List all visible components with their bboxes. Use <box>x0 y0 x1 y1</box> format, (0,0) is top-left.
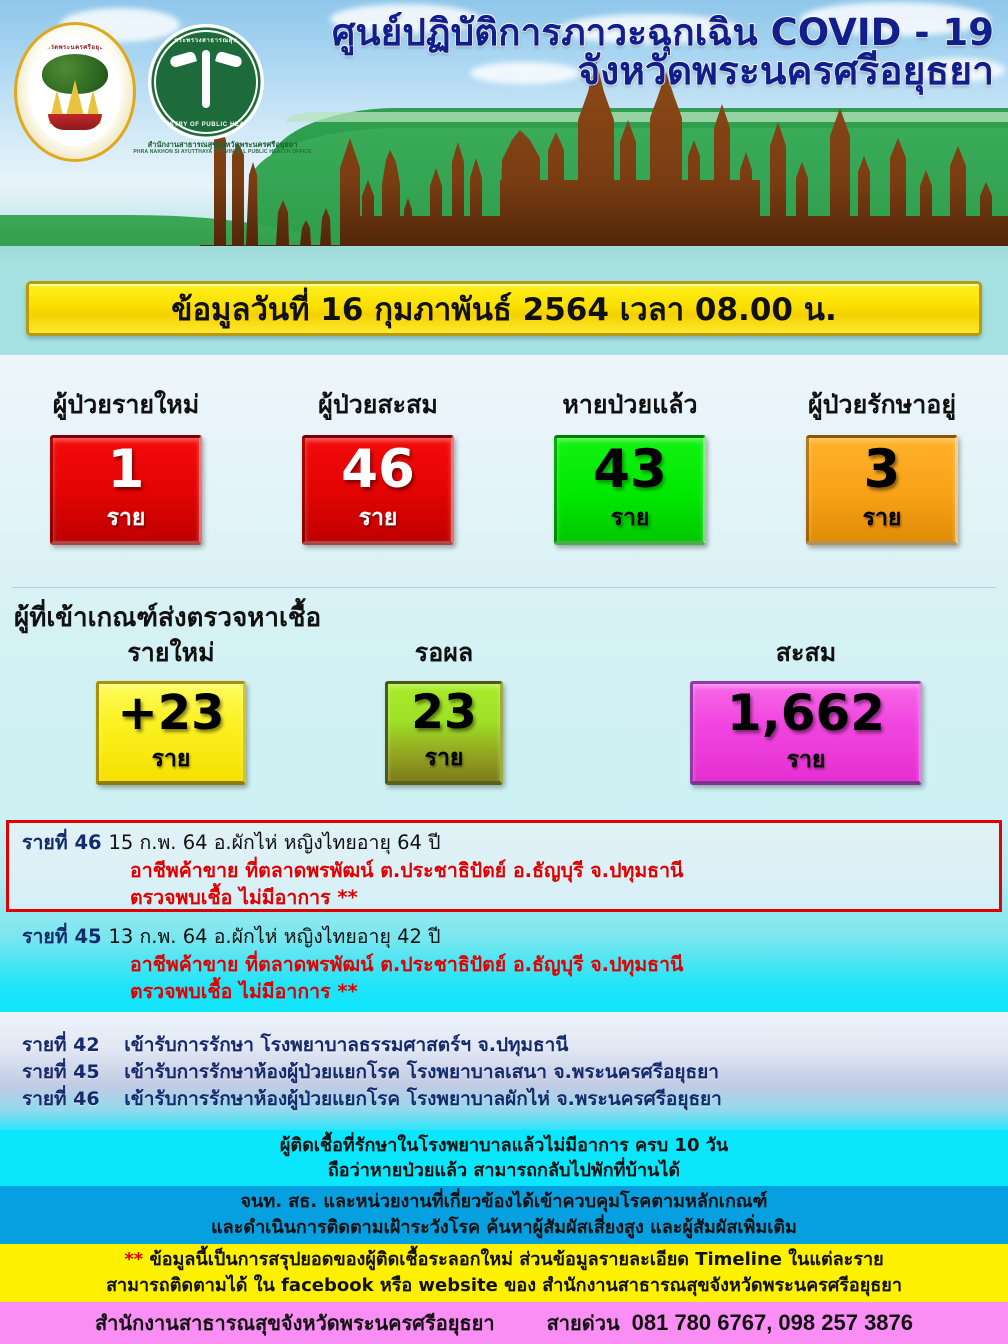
stat-unit: ราย <box>863 500 902 536</box>
page-title: ศูนย์ปฏิบัติการภาวะฉุกเฉิน COVID - 19 จั… <box>234 14 994 92</box>
office-caption-th: สำนักงานสาธารณสุขจังหวัดพระนครศรีอยุธยา <box>130 140 315 149</box>
stat-label: ผู้ป่วยรายใหม่ <box>53 385 199 425</box>
stat-recovered: หายป่วยแล้ว 43 ราย <box>504 385 756 545</box>
seal-base-icon <box>48 114 102 130</box>
stat-value: 1 <box>108 443 145 496</box>
admission-row: รายที่ 42 เข้ารับการรักษา โรงพยาบาลธรรมศ… <box>22 1030 568 1060</box>
admission-case-number: รายที่ 46 <box>22 1088 100 1110</box>
control-measures-line-1: จนท. สธ. และหน่วยงานที่เกี่ยวข้องได้เข้า… <box>240 1189 767 1215</box>
control-measures-section: จนท. สธ. และหน่วยงานที่เกี่ยวข้องได้เข้า… <box>0 1186 1008 1244</box>
case-detail-line-2: ตรวจพบเชื้อ ไม่มีอาการ ** <box>22 978 683 1006</box>
statistics-section: ผู้ป่วยรายใหม่ 1 ราย ผู้ป่วยสะสม 46 ราย … <box>0 355 1008 815</box>
seal-arc-text: จังหวัดพระนครศรีอยุธยา <box>29 42 121 52</box>
admission-text: เข้ารับการรักษาห้องผู้ป่วยแยกโรค โรงพยาบ… <box>106 1061 719 1083</box>
case-entry: รายที่ 45 13 ก.พ. 64 อ.ผักไห่ หญิงไทยอาย… <box>22 923 683 1006</box>
title-line-1: ศูนย์ปฏิบัติการภาวะฉุกเฉิน COVID - 19 <box>234 14 994 52</box>
moph-logo-text-en: MINISTRY OF PUBLIC HEALTH <box>148 122 264 128</box>
screening-new: รายใหม่ +23 ราย <box>96 633 246 785</box>
admission-case-number: รายที่ 45 <box>22 1061 100 1083</box>
case-number: รายที่ 45 <box>22 925 102 948</box>
stats-row-primary: ผู้ป่วยรายใหม่ 1 ราย ผู้ป่วยสะสม 46 ราย … <box>0 385 1008 545</box>
case-entry: รายที่ 46 15 ก.พ. 64 อ.ผักไห่ หญิงไทยอาย… <box>22 829 683 912</box>
recovery-note-line-1: ผู้ติดเชื้อที่รักษาในโรงพยาบาลแล้วไม่มีอ… <box>280 1133 728 1158</box>
recovery-note-line-2: ถือว่าหายป่วยแล้ว สามารถกลับไปพักที่บ้าน… <box>328 1158 680 1183</box>
hotline-numbers[interactable]: 081 780 6767, 098 257 3876 <box>632 1310 913 1336</box>
stat-card: 1 ราย <box>50 435 202 545</box>
case-header-line: รายที่ 46 15 ก.พ. 64 อ.ผักไห่ หญิงไทยอาย… <box>22 829 683 857</box>
case-summary: 13 ก.พ. 64 อ.ผักไห่ หญิงไทยอายุ 42 ปี <box>108 925 440 948</box>
disclaimer-line-1: ** ข้อมูลนี้เป็นการสรุปยอดของผู้ติดเชื้อ… <box>124 1247 883 1273</box>
screening-pending: รอผล 23 ราย <box>385 633 503 785</box>
header-banner: จังหวัดพระนครศรีอยุธยา กระทรวงสาธารณสุข … <box>0 0 1008 263</box>
admission-row: รายที่ 45 เข้ารับการรักษาห้องผู้ป่วยแยกโ… <box>22 1057 719 1087</box>
screening-label: สะสม <box>776 633 836 673</box>
stat-unit: ราย <box>611 500 650 536</box>
stat-under-treatment: ผู้ป่วยรักษาอยู่ 3 ราย <box>756 385 1008 545</box>
recovery-note-section: ผู้ติดเชื้อที่รักษาในโรงพยาบาลแล้วไม่มีอ… <box>0 1130 1008 1186</box>
stat-label: ผู้ป่วยรักษาอยู่ <box>808 385 956 425</box>
province-seal-logo: จังหวัดพระนครศรีอยุธยา <box>14 22 136 162</box>
title-line-2: จังหวัดพระนครศรีอยุธยา <box>234 52 994 92</box>
contact-footer: สำนักงานสาธารณสุขจังหวัดพระนครศรีอยุธยา … <box>0 1302 1008 1344</box>
date-banner: ข้อมูลวันที่ 16 กุมภาพันธ์ 2564 เวลา 08.… <box>26 281 982 336</box>
screening-card: 1,662 ราย <box>690 681 922 785</box>
organization-name: สำนักงานสาธารณสุขจังหวัดพระนครศรีอยุธยา <box>95 1307 495 1339</box>
case-detail-line-1: อาชีพค้าขาย ที่ตลาดพรพัฒน์ ต.ประชาธิปัตย… <box>22 857 683 885</box>
screening-value: 23 <box>411 689 476 736</box>
stat-card: 43 ราย <box>554 435 706 545</box>
case-detail-line-1: อาชีพค้าขาย ที่ตลาดพรพัฒน์ ต.ประชาธิปัตย… <box>22 951 683 979</box>
date-strip: ข้อมูลวันที่ 16 กุมภาพันธ์ 2564 เวลา 08.… <box>0 263 1008 355</box>
stat-unit: ราย <box>359 500 398 536</box>
screening-card: 23 ราย <box>385 681 503 785</box>
screening-cumulative: สะสม 1,662 ราย <box>690 633 922 785</box>
stat-value: 46 <box>341 443 415 496</box>
screening-value: +23 <box>117 689 224 737</box>
stat-total-cases: ผู้ป่วยสะสม 46 ราย <box>252 385 504 545</box>
admission-case-number: รายที่ 42 <box>22 1034 100 1056</box>
caduceus-icon <box>202 50 210 108</box>
screening-card: +23 ราย <box>96 681 246 785</box>
admission-row: รายที่ 46 เข้ารับการรักษาห้องผู้ป่วยแยกโ… <box>22 1084 722 1114</box>
asterisk-marker: ** <box>124 1249 143 1270</box>
case-header-line: รายที่ 45 13 ก.พ. 64 อ.ผักไห่ หญิงไทยอาย… <box>22 923 683 951</box>
stat-value: 3 <box>864 443 901 496</box>
case-details-section: รายที่ 46 15 ก.พ. 64 อ.ผักไห่ หญิงไทยอาย… <box>0 815 1008 1012</box>
water-strip <box>0 246 1008 263</box>
stat-label: ผู้ป่วยสะสม <box>318 385 438 425</box>
screening-unit: ราย <box>787 742 826 778</box>
case-summary: 15 ก.พ. 64 อ.ผักไห่ หญิงไทยอายุ 64 ปี <box>108 831 440 854</box>
office-caption-en: PHRA NAKHON SI AYUTTHAYA PROVINCIAL PUBL… <box>130 149 315 155</box>
screening-label: รอผล <box>415 633 473 673</box>
section-divider <box>12 587 996 588</box>
admission-text: เข้ารับการรักษา โรงพยาบาลธรรมศาสตร์ฯ จ.ป… <box>106 1034 568 1056</box>
stat-label: หายป่วยแล้ว <box>562 385 697 425</box>
hotline-label: สายด่วน <box>547 1307 620 1339</box>
screening-value: 1,662 <box>727 688 885 738</box>
admission-text: เข้ารับการรักษาห้องผู้ป่วยแยกโรค โรงพยาบ… <box>106 1088 722 1110</box>
admissions-section: รายที่ 42 เข้ารับการรักษา โรงพยาบาลธรรมศ… <box>0 1012 1008 1130</box>
stat-card: 46 ราย <box>302 435 454 545</box>
stat-unit: ราย <box>107 500 146 536</box>
disclaimer-line-2: สามารถติดตามได้ ใน facebook หรือ website… <box>106 1273 902 1299</box>
moph-office-caption: สำนักงานสาธารณสุขจังหวัดพระนครศรีอยุธยา … <box>130 140 315 156</box>
stat-new-cases: ผู้ป่วยรายใหม่ 1 ราย <box>0 385 252 545</box>
disclaimer-text-1: ข้อมูลนี้เป็นการสรุปยอดของผู้ติดเชื้อระล… <box>149 1249 883 1270</box>
disclaimer-section: ** ข้อมูลนี้เป็นการสรุปยอดของผู้ติดเชื้อ… <box>0 1244 1008 1302</box>
case-number: รายที่ 46 <box>22 831 102 854</box>
screening-unit: ราย <box>425 740 464 776</box>
screening-label: รายใหม่ <box>127 633 214 673</box>
stat-value: 43 <box>593 443 667 496</box>
screening-unit: ราย <box>152 741 191 777</box>
case-detail-line-2: ตรวจพบเชื้อ ไม่มีอาการ ** <box>22 884 683 912</box>
control-measures-line-2: และดำเนินการติดตามเฝ้าระวังโรค ค้นหาผู้ส… <box>211 1215 797 1241</box>
stat-card: 3 ราย <box>806 435 958 545</box>
date-banner-text: ข้อมูลวันที่ 16 กุมภาพันธ์ 2564 เวลา 08.… <box>171 284 836 334</box>
screening-group-title: ผู้ที่เข้าเกณฑ์ส่งตรวจหาเชื้อ <box>14 597 321 638</box>
